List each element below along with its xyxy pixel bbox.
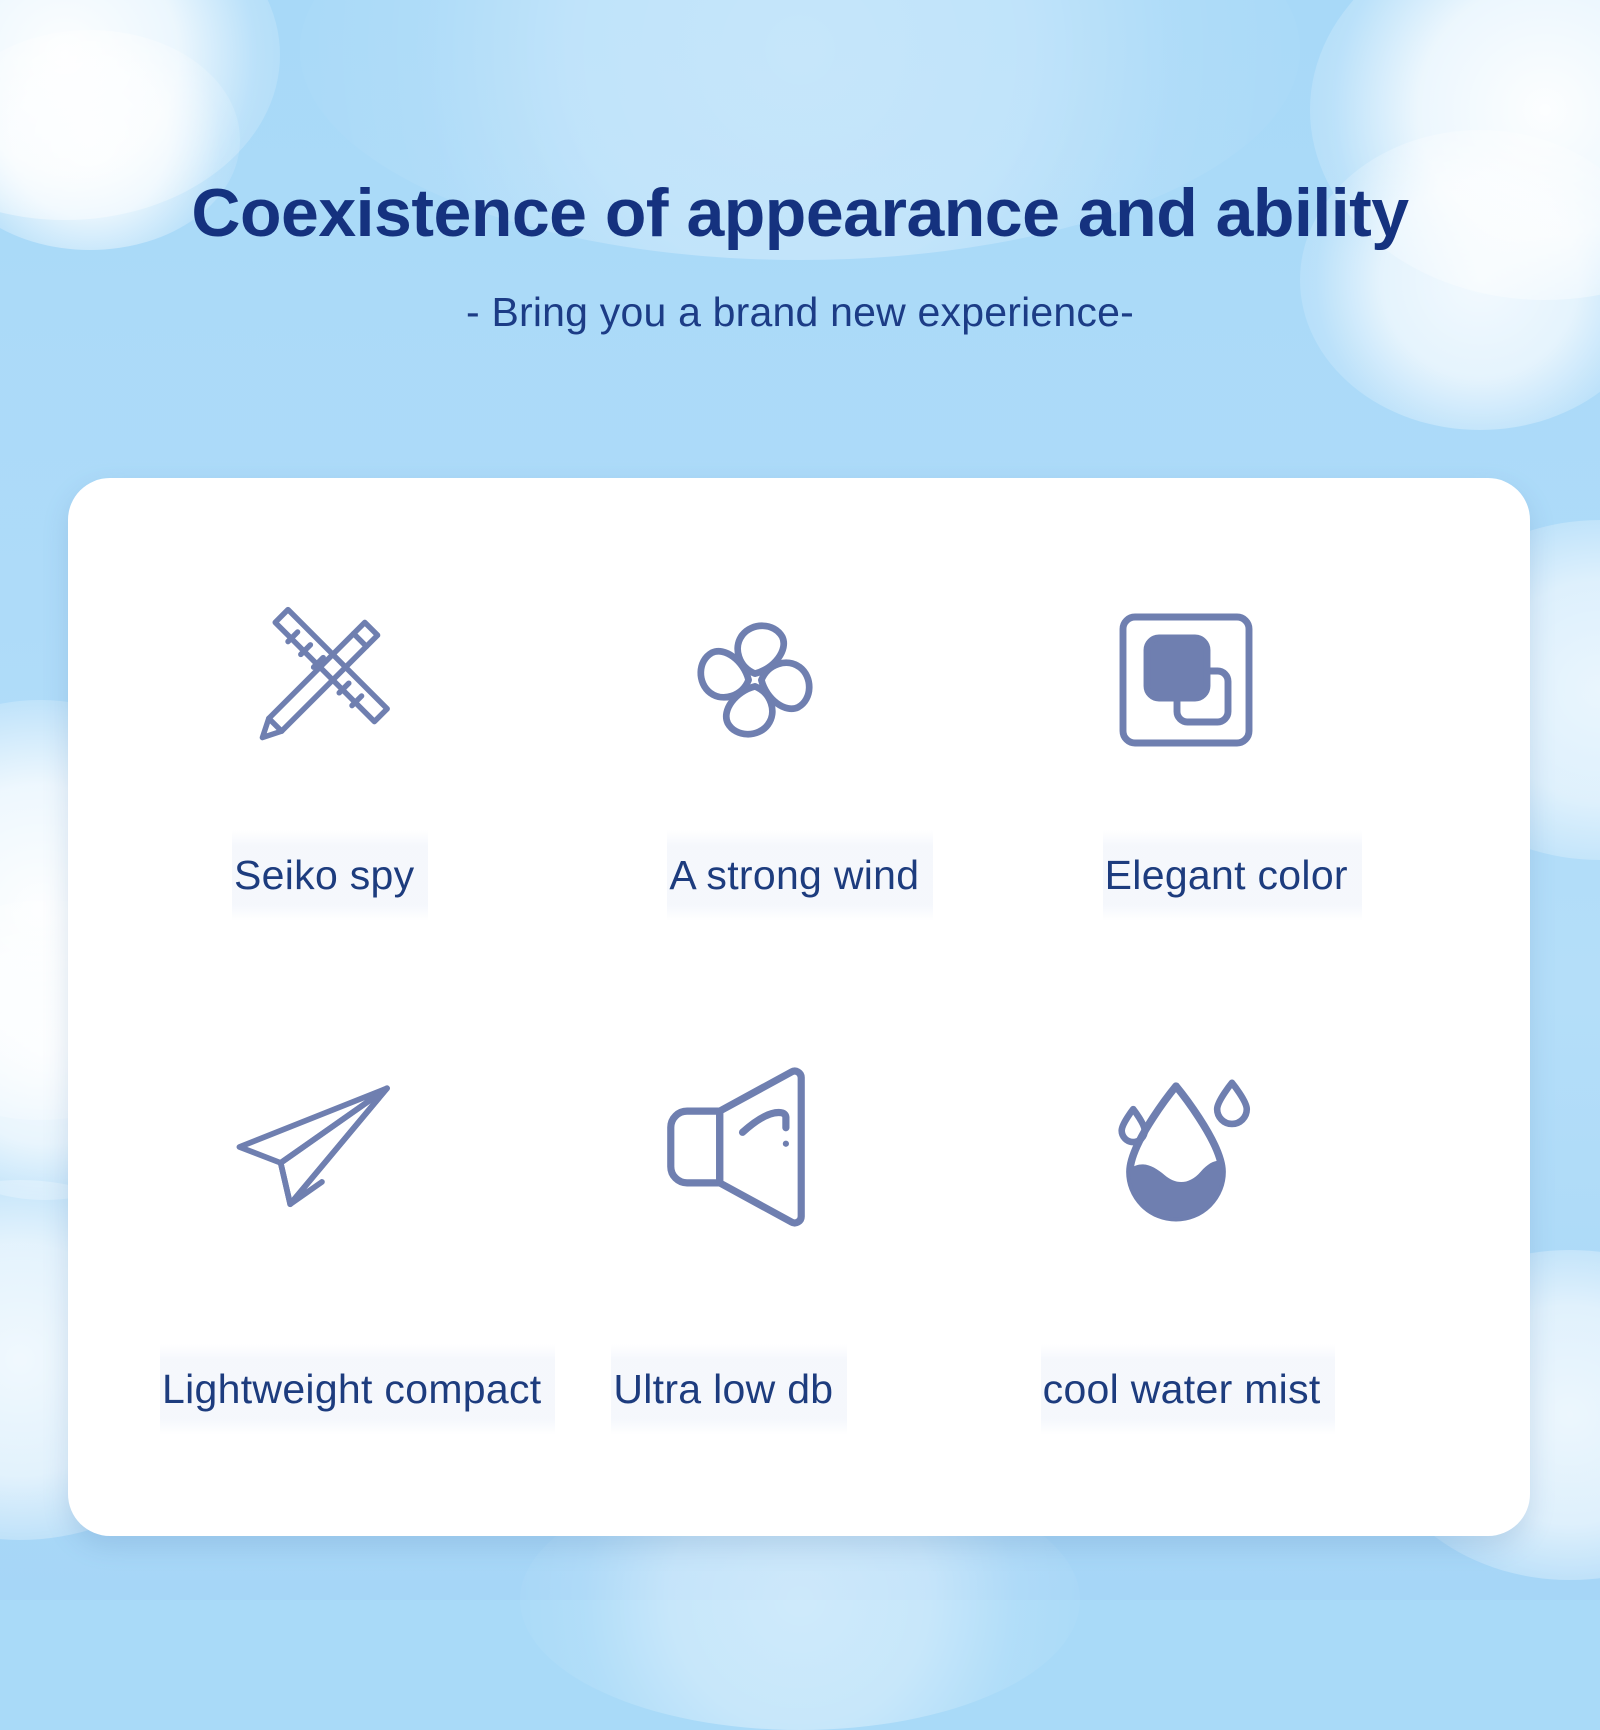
page-title: Coexistence of appearance and ability [0,178,1600,249]
feature-item-seiko-spy[interactable]: Seiko spy [146,530,581,1002]
feature-item-a-strong-wind[interactable]: A strong wind [581,530,1016,1002]
feature-item-elegant-color[interactable]: Elegant color [1017,530,1452,1002]
overlapping-squares-icon [1023,530,1452,830]
feature-item-cool-water-mist[interactable]: cool water mist [1017,1002,1452,1474]
pencil-ruler-cross-icon [152,530,581,830]
feature-card: Seiko spy A strong wind [68,478,1530,1536]
feature-label: Seiko spy [232,830,428,921]
page-subtitle: - Bring you a brand new experience- [0,289,1600,336]
water-droplet-icon [1023,1002,1452,1292]
header-block: Coexistence of appearance and ability - … [0,178,1600,336]
feature-item-ultra-low-db[interactable]: Ultra low db [581,1002,1016,1474]
feature-label: Elegant color [1103,830,1362,921]
speaker-volume-icon [587,1002,1016,1292]
feature-label: A strong wind [667,830,933,921]
feature-label: cool water mist [1041,1344,1335,1435]
feature-label: Lightweight compact [160,1344,555,1435]
feature-label: Ultra low db [611,1344,847,1435]
paper-plane-icon [152,1002,581,1292]
fan-blades-icon [587,530,1016,830]
feature-item-lightweight-compact[interactable]: Lightweight compact [146,1002,581,1474]
feature-grid: Seiko spy A strong wind [68,478,1530,1536]
